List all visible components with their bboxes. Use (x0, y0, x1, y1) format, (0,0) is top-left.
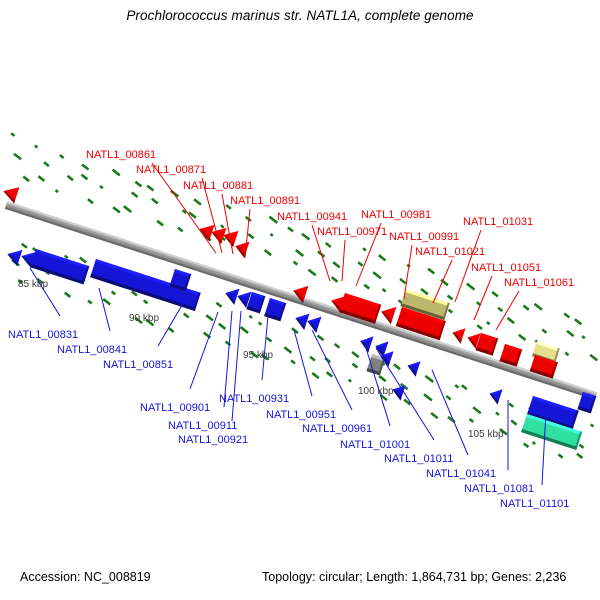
density-tick (382, 288, 387, 292)
label-leader-line (496, 291, 519, 330)
density-tick (326, 371, 333, 377)
density-tick (448, 309, 453, 314)
density-tick (334, 343, 340, 349)
gene-label[interactable]: NATL1_01021 (415, 247, 485, 258)
density-tick (564, 352, 569, 357)
gene-label[interactable]: NATL1_01001 (340, 440, 410, 451)
label-leader-line (312, 330, 352, 410)
density-tick (362, 247, 367, 251)
density-tick (225, 340, 231, 346)
gene-label[interactable]: NATL1_00921 (178, 435, 248, 446)
density-tick (38, 175, 46, 182)
gene-feature-reverse (358, 333, 374, 353)
gene-label[interactable]: NATL1_01051 (471, 263, 541, 274)
density-tick (270, 233, 274, 237)
density-tick (87, 198, 94, 204)
density-tick (183, 313, 190, 319)
gene-label[interactable]: NATL1_00831 (8, 330, 78, 341)
density-tick (425, 375, 434, 383)
gene-label[interactable]: NATL1_00841 (57, 345, 127, 356)
density-tick (218, 323, 226, 330)
density-tick (131, 191, 139, 198)
label-leader-line (158, 300, 185, 346)
density-tick (440, 279, 449, 286)
density-tick (143, 299, 148, 304)
density-tick (79, 257, 87, 264)
density-tick (378, 375, 386, 382)
label-leader-line (474, 276, 492, 320)
gene-label[interactable]: NATL1_00931 (219, 394, 289, 405)
density-tick (497, 307, 503, 312)
scale-marker: 95 kbp (243, 350, 273, 361)
density-tick (258, 321, 262, 325)
density-tick (311, 372, 319, 379)
density-tick (563, 312, 570, 318)
density-tick (446, 395, 452, 401)
gene-label[interactable]: NATL1_00851 (103, 360, 173, 371)
density-tick (393, 363, 401, 370)
density-tick (534, 303, 543, 311)
status-bar: Accession: NC_008819 Topology: circular;… (0, 570, 600, 592)
gene-label[interactable]: NATL1_01031 (463, 217, 533, 228)
density-tick (430, 412, 438, 419)
density-tick (325, 242, 332, 248)
gene-label[interactable]: NATL1_01061 (504, 278, 574, 289)
density-tick (34, 144, 38, 148)
density-tick (290, 359, 295, 364)
density-tick (332, 261, 340, 268)
density-tick (55, 189, 59, 193)
density-tick (477, 324, 483, 330)
density-tick (23, 176, 30, 183)
density-tick (308, 269, 317, 277)
density-tick (112, 169, 121, 177)
density-tick (249, 315, 253, 319)
density-tick (523, 442, 529, 448)
density-tick (123, 205, 132, 213)
genome-map-viewer: Prochlorococcus marinus str. NATL1A, com… (0, 0, 600, 600)
gene-feature-forward (378, 303, 396, 324)
density-tick (156, 220, 164, 227)
density-tick (111, 291, 116, 296)
density-tick (576, 453, 583, 459)
density-tick (81, 174, 89, 181)
gene-label[interactable]: NATL1_00971 (317, 227, 387, 238)
density-tick (177, 227, 183, 233)
density-tick (293, 261, 298, 266)
density-tick (348, 379, 352, 383)
label-leader-line (294, 330, 312, 396)
density-tick (287, 226, 294, 232)
label-leader-line (342, 240, 345, 281)
gene-label[interactable]: NATL1_00911 (168, 421, 237, 432)
density-tick (245, 216, 252, 222)
gene-feature-forward (450, 325, 465, 344)
density-tick (193, 198, 201, 205)
label-leader-line (432, 370, 468, 455)
density-tick (510, 419, 517, 425)
gene-label[interactable]: NATL1_00941 (277, 212, 347, 223)
density-tick (301, 233, 310, 241)
density-tick (87, 300, 92, 305)
density-tick (491, 291, 498, 298)
gene-label[interactable]: NATL1_00891 (230, 196, 300, 207)
topology-text: Topology: circular; Length: 1,864,731 bp… (262, 570, 566, 584)
density-tick (589, 354, 598, 362)
density-tick (523, 305, 530, 311)
gene-label[interactable]: NATL1_00871 (136, 165, 206, 176)
density-tick (59, 154, 64, 159)
density-tick (247, 233, 254, 239)
density-tick (579, 444, 585, 449)
density-tick (566, 330, 574, 337)
gene-feature-reverse (405, 358, 420, 377)
density-tick (508, 403, 514, 408)
density-tick (64, 292, 71, 298)
density-tick (518, 334, 526, 341)
genome-map-canvas (0, 0, 600, 600)
gene-label[interactable]: NATL1_01101 (500, 499, 569, 510)
density-tick (264, 249, 272, 256)
density-tick (423, 393, 432, 401)
density-tick (220, 224, 225, 228)
density-tick (135, 181, 143, 188)
gene-feature-forward (1, 183, 20, 203)
density-tick (466, 283, 475, 291)
gene-label[interactable]: NATL1_01081 (464, 484, 534, 495)
scale-marker: 90 kbp (129, 313, 159, 324)
density-tick (590, 423, 594, 427)
gene-feature-reverse (5, 246, 23, 266)
density-tick (357, 261, 363, 266)
density-tick (67, 175, 74, 181)
gene-label[interactable]: NATL1_00951 (266, 410, 336, 421)
density-tick (13, 153, 22, 161)
density-tick (317, 334, 325, 341)
density-tick (378, 254, 386, 261)
gene-label[interactable]: NATL1_00881 (183, 181, 253, 192)
density-tick (284, 346, 293, 353)
gene-label[interactable]: NATL1_00991 (389, 232, 459, 243)
density-tick (309, 356, 315, 362)
density-tick (43, 161, 49, 167)
gene-feature-reverse (293, 310, 310, 330)
density-tick (472, 406, 481, 414)
density-tick (112, 206, 120, 213)
density-tick (352, 363, 358, 369)
gene-label[interactable]: NATL1_00961 (302, 424, 372, 435)
density-tick (351, 351, 359, 358)
gene-label[interactable]: NATL1_00981 (361, 210, 431, 221)
scale-marker: 100 kbp (358, 386, 394, 397)
scale-marker: 85 kbp (18, 279, 48, 290)
density-tick (461, 384, 468, 390)
density-tick (532, 441, 536, 445)
density-tick (581, 335, 585, 339)
label-leader-line (262, 316, 268, 380)
accession-text: Accession: NC_008819 (20, 570, 151, 584)
gene-feature-reverse (223, 285, 240, 305)
density-tick (507, 317, 515, 324)
gene-feature-reverse (487, 386, 502, 405)
density-tick (205, 314, 213, 321)
density-tick (146, 185, 154, 192)
density-tick (454, 384, 459, 389)
density-tick (558, 453, 564, 458)
density-tick (364, 284, 371, 290)
scale-marker: 105 kbp (468, 429, 504, 440)
density-tick (21, 243, 28, 249)
label-leader-line (99, 288, 110, 331)
density-tick (541, 328, 547, 333)
density-tick (399, 278, 406, 284)
density-tick (574, 318, 582, 325)
gene-label[interactable]: NATL1_00901 (140, 403, 210, 414)
density-tick (495, 411, 500, 415)
density-tick (10, 132, 15, 137)
density-tick (295, 249, 304, 257)
density-tick (469, 418, 474, 423)
density-tick (427, 268, 435, 275)
density-tick (331, 276, 338, 283)
label-leader-line (190, 312, 218, 389)
label-leader-line (152, 163, 216, 253)
density-tick (372, 271, 381, 279)
density-tick (486, 321, 490, 325)
density-tick (266, 337, 272, 343)
density-tick (216, 302, 223, 308)
density-tick (151, 198, 159, 205)
density-tick (240, 326, 249, 334)
density-tick (447, 295, 453, 301)
gene-label[interactable]: NATL1_01041 (426, 469, 496, 480)
gene-label[interactable]: NATL1_01011 (384, 454, 453, 465)
gene-label[interactable]: NATL1_00861 (86, 150, 156, 161)
density-tick (81, 163, 89, 170)
density-tick (99, 185, 103, 189)
